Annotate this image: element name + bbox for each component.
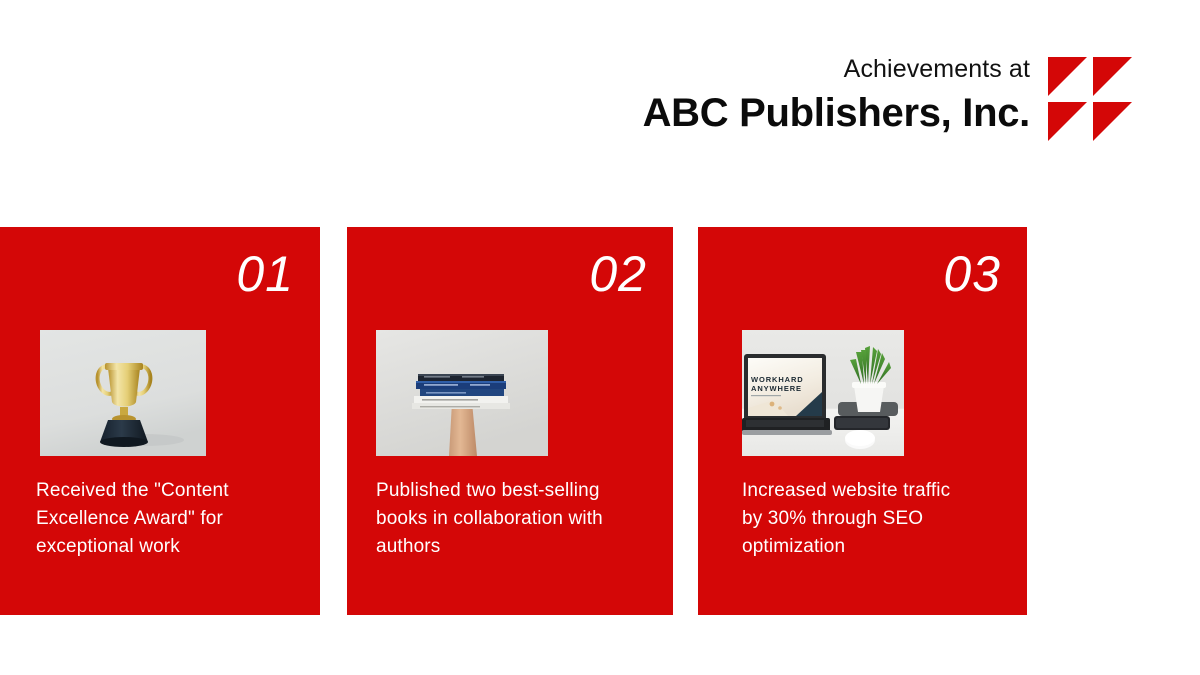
laptop-desk-photo: WORKHARD ANYWHERE [742, 330, 904, 456]
card-number-02: 02 [589, 245, 647, 303]
card-text-02: Published two best-selling books in coll… [376, 477, 648, 561]
header-eyebrow: Achievements at [560, 52, 1030, 86]
card-text-03: Increased website traffic by 30% through… [742, 477, 972, 561]
stack-of-books-photo [376, 330, 548, 456]
svg-text:ANYWHERE: ANYWHERE [751, 384, 802, 393]
slide-canvas: Achievements at ABC Publishers, Inc. 01 [0, 0, 1200, 675]
achievement-card-2[interactable]: 02 [347, 227, 673, 615]
card-text-01: Received the "Content Excellence Award" … [36, 477, 286, 561]
page-title: ABC Publishers, Inc. [560, 88, 1030, 138]
achievement-card-list: 01 [0, 227, 1200, 615]
achievement-card-3[interactable]: 03 [698, 227, 1027, 615]
achievement-card-1[interactable]: 01 [0, 227, 320, 615]
company-logo-icon [1048, 57, 1132, 143]
trophy-photo [40, 330, 206, 456]
slide-header: Achievements at ABC Publishers, Inc. [560, 52, 1030, 138]
card-number-01: 01 [236, 245, 294, 303]
svg-text:WORKHARD: WORKHARD [751, 375, 804, 384]
card-number-03: 03 [943, 245, 1001, 303]
